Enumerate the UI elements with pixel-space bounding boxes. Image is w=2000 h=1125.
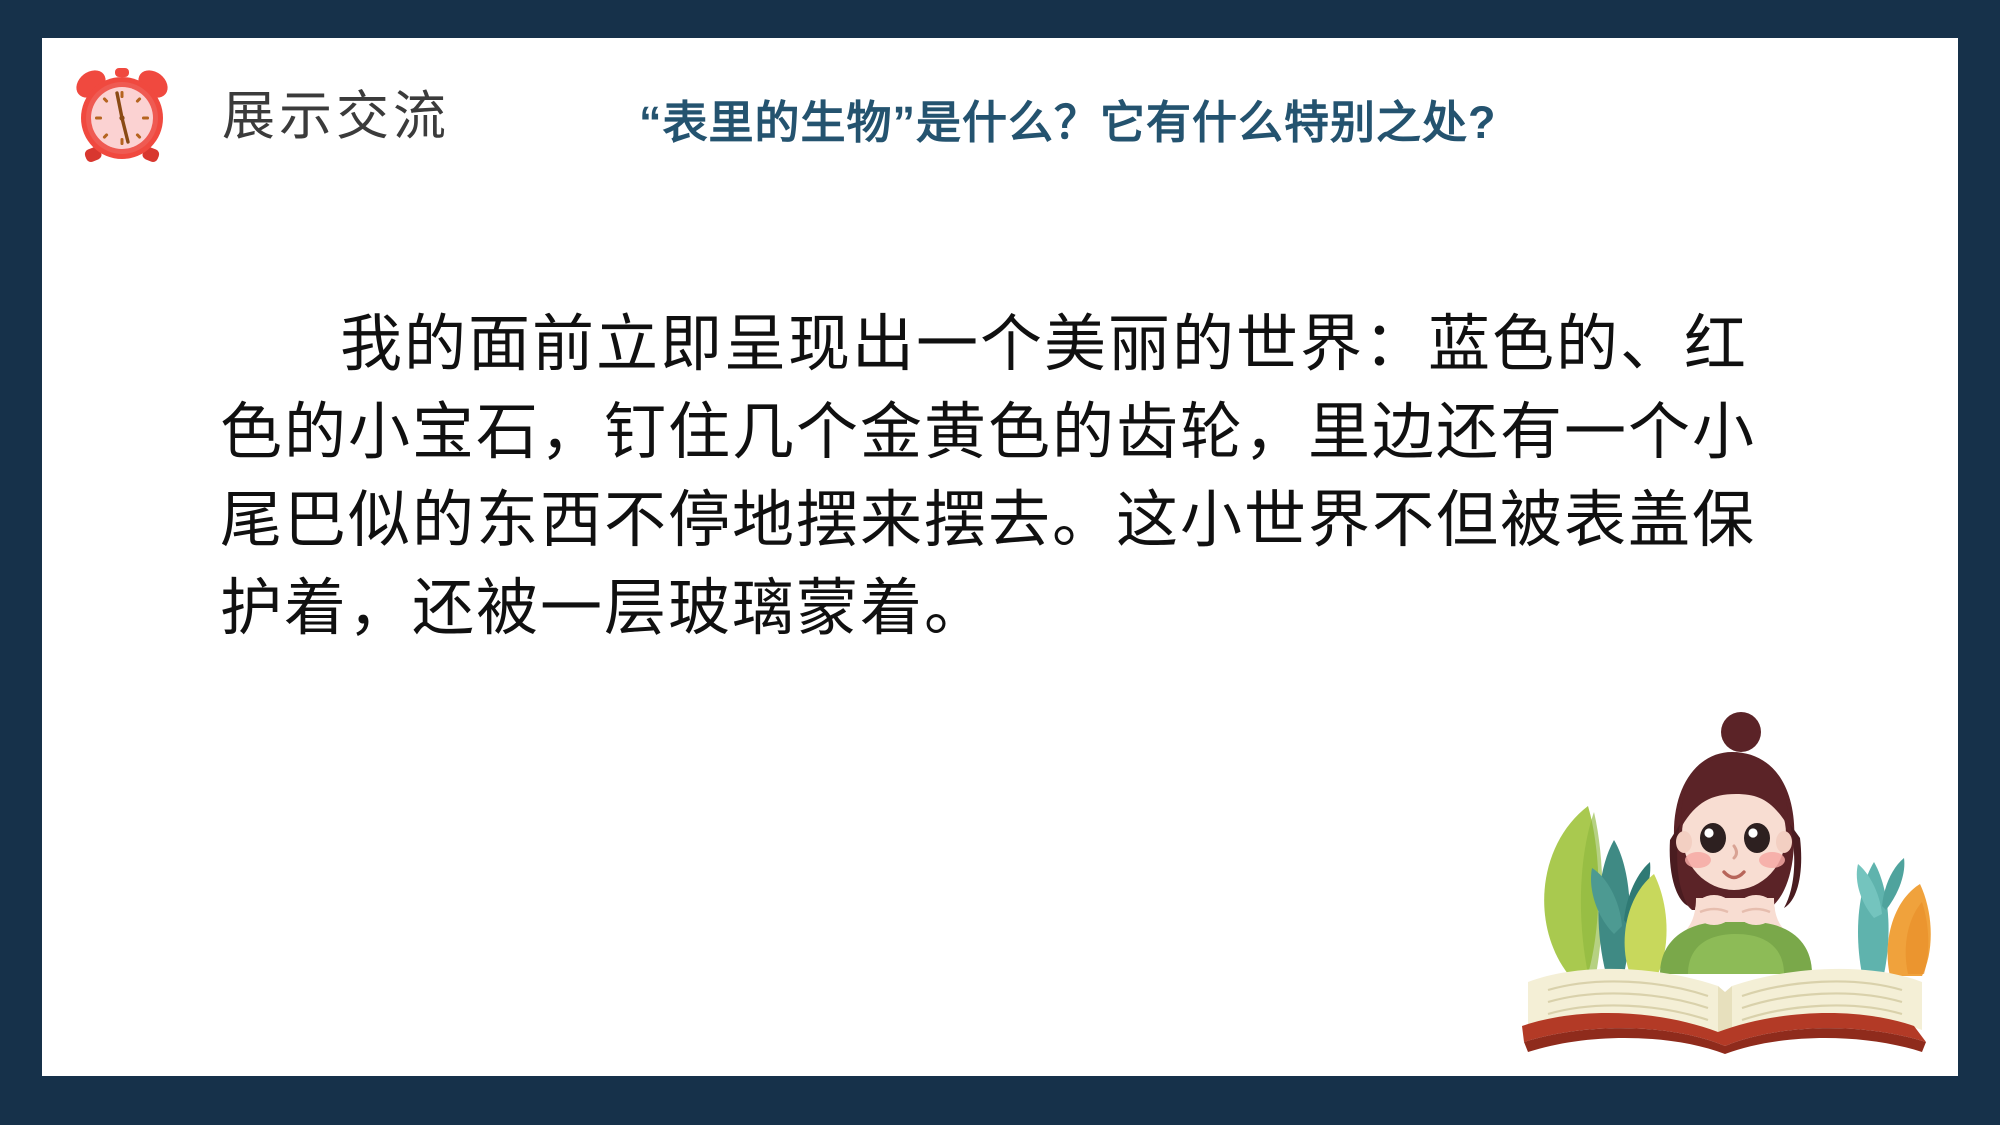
header-question-text: “表里的生物”是什么？它有什么特别之处? (639, 100, 1497, 145)
girl-reading-book-illustration (1510, 674, 1940, 1054)
slide-root: 展示交流 “表里的生物”是什么？它有什么特别之处? 我的面前立即呈现出一个美丽的… (0, 0, 2000, 1125)
body-line: 我的面前立即呈现出一个美丽的世界：蓝色的、红 (220, 300, 1880, 388)
alarm-clock-icon (67, 60, 177, 164)
body-line: 护着，还被一层玻璃蒙着。 (220, 564, 1880, 652)
girl-figure (1660, 712, 1812, 974)
body-line: 尾巴似的东西不停地摆来摆去。这小世界不但被表盖保 (220, 476, 1880, 564)
body-line: 色的小宝石，钉住几个金黄色的齿轮，里边还有一个小 (220, 388, 1880, 476)
page-title: 展示交流 (222, 90, 450, 143)
slide-canvas: 展示交流 “表里的生物”是什么？它有什么特别之处? 我的面前立即呈现出一个美丽的… (42, 38, 1958, 1076)
open-book (1522, 969, 1926, 1054)
body-paragraph: 我的面前立即呈现出一个美丽的世界：蓝色的、红 色的小宝石，钉住几个金黄色的齿轮，… (220, 300, 1880, 652)
slide-header: 展示交流 “表里的生物”是什么？它有什么特别之处? (42, 38, 1958, 156)
